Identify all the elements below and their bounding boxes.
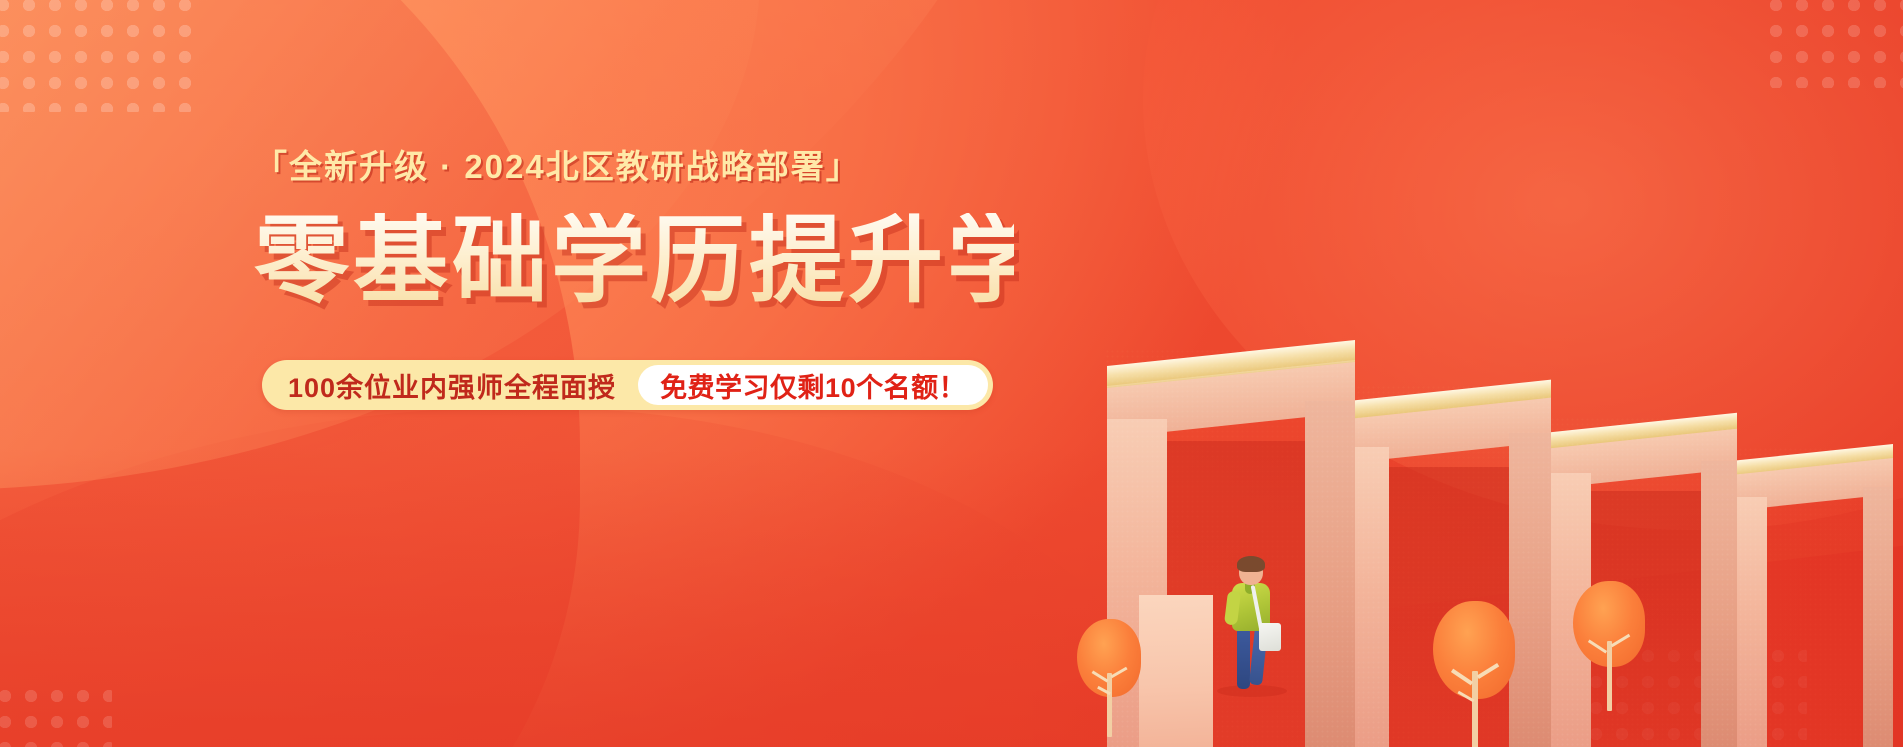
figure-tote-bag	[1259, 623, 1281, 651]
foreground-pillar	[1139, 595, 1213, 747]
promo-banner: 「全新升级 · 2024北区教研战略部署」 零基础学历提升学霸班 100余位业内…	[0, 0, 1903, 747]
tree-trunk	[1107, 673, 1112, 737]
tree-left-icon	[1077, 619, 1147, 739]
page-title: 零基础学历提升学霸班	[254, 213, 1014, 310]
dot-grid-top-left-icon	[0, 0, 200, 112]
student-figure-icon	[1221, 559, 1283, 691]
tree-trunk	[1472, 671, 1478, 747]
eyebrow-text: 「全新升级 · 2024北区教研战略部署」	[254, 150, 1014, 183]
tree-right-icon	[1573, 581, 1651, 713]
highlight-pill: 100余位业内强师全程面授 免费学习仅剩10个名额！	[262, 360, 993, 410]
tree-mid-icon	[1433, 601, 1523, 747]
figure-hair	[1237, 556, 1265, 572]
tree-trunk	[1607, 641, 1612, 711]
dot-grid-top-right-icon	[1763, 0, 1903, 88]
book-cover-right	[1863, 487, 1893, 747]
pill-seats-badge: 免费学习仅剩10个名额！	[638, 365, 988, 405]
book-cover-right	[1701, 461, 1737, 747]
book-cover-right	[1305, 401, 1355, 747]
figure-leg	[1237, 627, 1250, 689]
book-arch-4	[1713, 447, 1893, 747]
copy-block: 「全新升级 · 2024北区教研战略部署」 零基础学历提升学霸班	[254, 150, 1014, 310]
dot-grid-bottom-left-icon	[0, 683, 112, 747]
pill-teachers-label: 100余位业内强师全程面授	[288, 366, 638, 405]
illustration	[1073, 187, 1903, 747]
